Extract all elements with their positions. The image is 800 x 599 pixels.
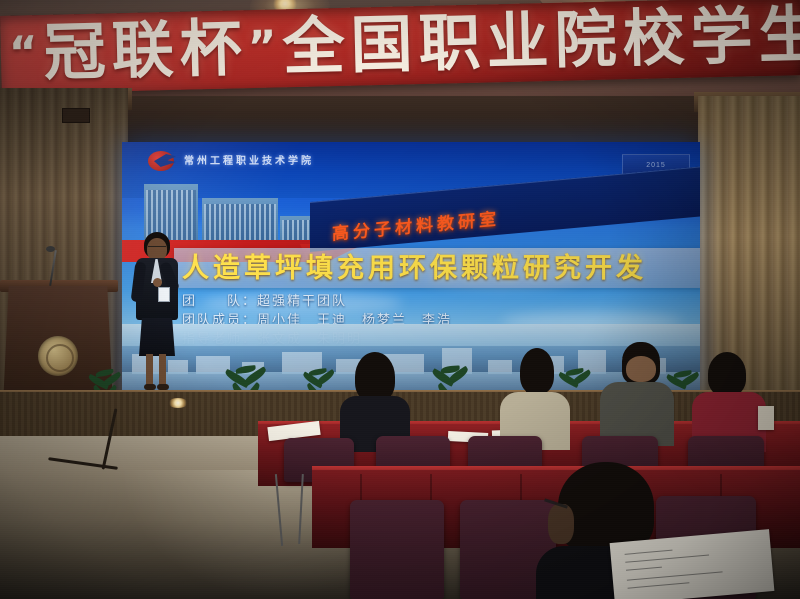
stage-floor-light-icon: [168, 398, 188, 408]
chair: [350, 500, 444, 599]
presenter-leg: [146, 354, 153, 386]
water-bottle: [758, 406, 774, 430]
judge-head: [626, 356, 656, 382]
presenter-glasses-icon: [148, 246, 166, 251]
paper-line: [627, 571, 723, 580]
institution-name: 常州工程职业技术学院: [184, 152, 314, 167]
presenter: [131, 232, 183, 400]
judge-person: [600, 342, 676, 448]
presenter-skirt: [139, 318, 175, 356]
slide-title: 人造草坪填充用环保颗粒研究开发: [182, 252, 700, 286]
slide-badge-text: 2015: [646, 162, 666, 169]
presenter-id-badge: [158, 287, 170, 302]
microphone-icon: [46, 246, 55, 252]
judge-person: [500, 348, 572, 448]
paper-line: [626, 567, 662, 571]
paper-line: [628, 582, 690, 588]
foreground-person-ear: [548, 504, 574, 544]
wall-speaker-icon: [62, 108, 90, 123]
slide-line-team: 团 队：超强精干团队: [182, 292, 682, 311]
presenter-hand: [153, 278, 162, 287]
paper-line: [625, 554, 709, 562]
judge-hair: [355, 352, 395, 402]
presenter-leg: [159, 354, 166, 386]
banner-title-part1: 冠联杯: [43, 11, 249, 89]
podium-crest-icon: [38, 336, 78, 376]
banner-quote-close: ”: [247, 21, 283, 73]
paper-line: [625, 550, 673, 555]
institution-logo-icon: [148, 150, 176, 172]
banner-title-part2: 全国职业院校学生高分: [282, 0, 800, 83]
judge-person: [338, 352, 412, 448]
judge-person: [692, 352, 766, 448]
judge-hair: [708, 352, 746, 396]
banner-quote-open: “: [8, 27, 44, 79]
photo-scene: “冠联杯”全国职业院校学生高分 常州工程职业技术学院 2015: [0, 0, 800, 599]
